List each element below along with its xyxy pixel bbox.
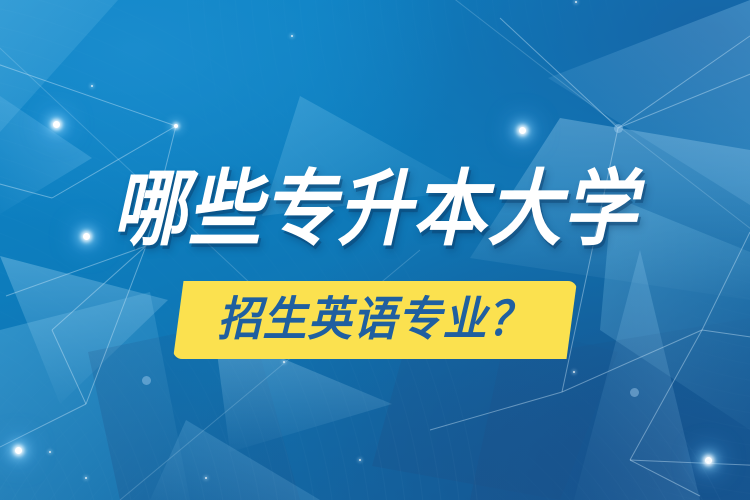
glow-node <box>15 447 22 454</box>
glow-node <box>519 127 526 134</box>
banner-image: 哪些专升本大学 招生英语专业？ <box>0 0 750 500</box>
headline-container: 哪些专升本大学 <box>0 168 750 242</box>
glow-node <box>705 457 712 464</box>
glow-node <box>707 461 710 464</box>
glow-node <box>142 376 151 385</box>
page-title: 哪些专升本大学 <box>113 168 638 251</box>
glow-node <box>174 124 178 128</box>
glow-node <box>49 451 52 454</box>
glow-node <box>85 477 88 480</box>
network-lines <box>0 18 750 496</box>
glow-node <box>630 388 639 397</box>
glow-node <box>575 1 578 4</box>
glow-node <box>614 124 623 133</box>
glow-node <box>205 477 208 480</box>
glow-node <box>291 35 294 38</box>
glow-node <box>573 371 576 374</box>
glow-node <box>359 459 362 462</box>
subtitle-container: 招生英语专业？ <box>173 281 577 359</box>
subtitle-text: 招生英语专业？ <box>218 297 533 344</box>
glow-node <box>283 361 286 364</box>
glow-node <box>91 85 94 88</box>
glow-node <box>53 121 60 128</box>
